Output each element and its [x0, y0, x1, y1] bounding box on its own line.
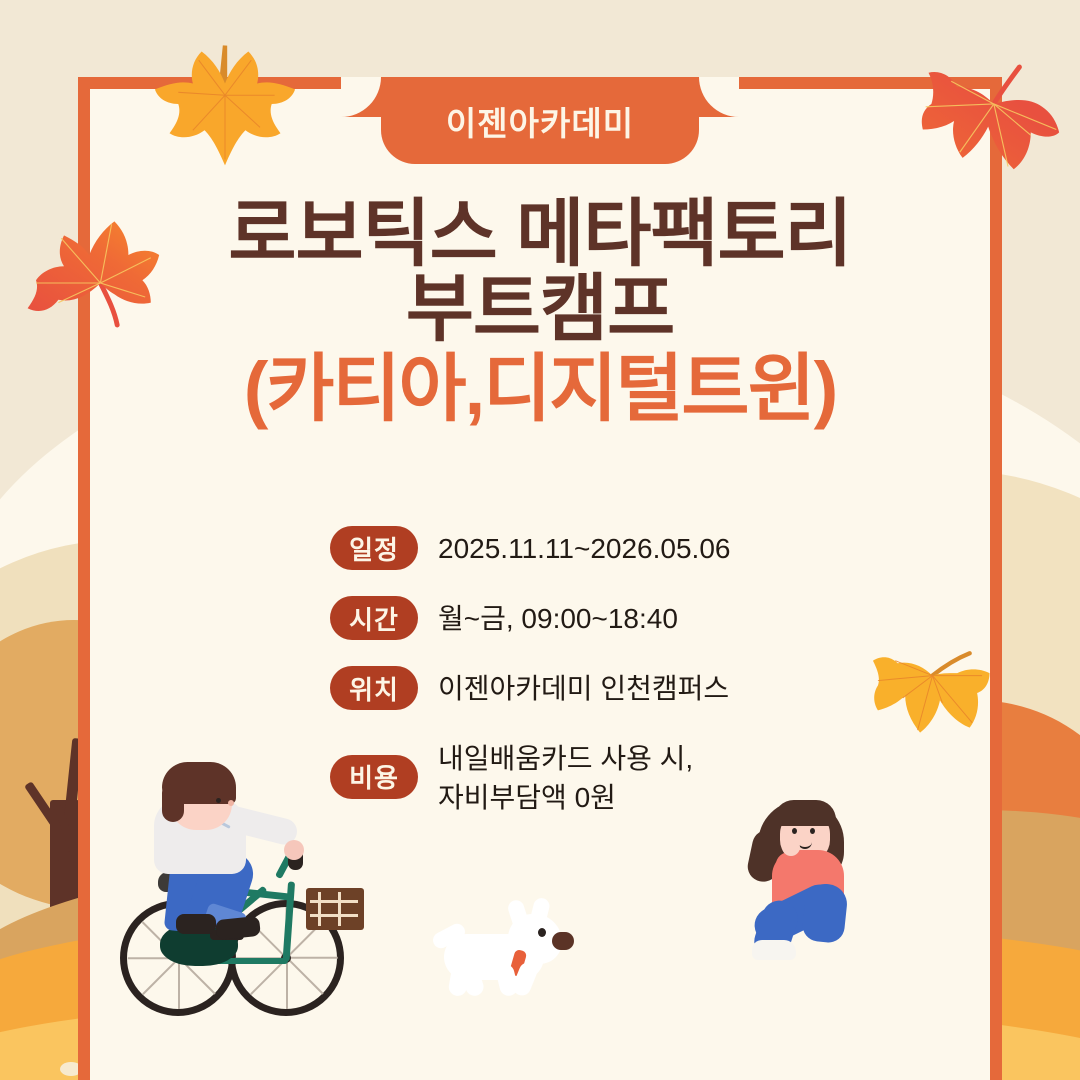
- title-line-3: (카티아,디지털트윈): [0, 351, 1080, 426]
- title-line-1: 로보틱스 메타팩토리: [0, 196, 1080, 271]
- dog-ear-back: [506, 898, 530, 930]
- info-label-time: 시간: [330, 596, 418, 640]
- girl-eye-right: [810, 828, 815, 834]
- academy-badge: 이젠아카데미: [381, 77, 699, 164]
- rider-shoe-back: [176, 914, 216, 934]
- maple-leaf-yellow-top-left-icon: [152, 28, 298, 180]
- maple-leaf-yellow-right-icon: [862, 626, 998, 750]
- info-value-location: 이젠아카데미 인천캠퍼스: [438, 666, 729, 709]
- bike-basket-weave: [338, 892, 341, 926]
- badge-notch-right: [699, 77, 739, 117]
- running-dog: [432, 898, 582, 1008]
- title-block: 로보틱스 메타팩토리 부트캠프 (카티아,디지털트윈): [0, 196, 1080, 426]
- sitting-girl: [748, 792, 898, 962]
- rider-eye: [216, 798, 221, 803]
- academy-badge-label: 이젠아카데미: [446, 97, 634, 145]
- info-value-schedule: 2025.11.11~2026.05.06: [438, 526, 730, 569]
- info-label-schedule: 일정: [330, 526, 418, 570]
- girl-hair-fringe: [774, 800, 836, 826]
- info-row-time: 시간 월~금, 09:00~18:40: [330, 596, 950, 640]
- bike-basket-weave: [310, 900, 358, 903]
- info-label-location: 위치: [330, 666, 418, 710]
- girl-knee: [801, 882, 849, 944]
- girl-shoe: [752, 940, 796, 960]
- info-row-schedule: 일정 2025.11.11~2026.05.06: [330, 526, 950, 570]
- info-list: 일정 2025.11.11~2026.05.06 시간 월~금, 09:00~1…: [330, 526, 950, 817]
- girl-eye-left: [792, 828, 797, 834]
- rider-hand: [284, 840, 304, 860]
- bike-basket-weave: [310, 914, 358, 917]
- maple-leaf-red-left-icon: [22, 196, 162, 342]
- rider-nose: [228, 800, 234, 806]
- rider-hair-side: [162, 784, 184, 822]
- bike-basket: [306, 888, 364, 930]
- cyclist: [110, 762, 360, 1042]
- info-value-cost: 내일배움카드 사용 시, 자비부담액 0원: [438, 736, 693, 817]
- info-value-time: 월~금, 09:00~18:40: [438, 596, 678, 639]
- dog-nose: [552, 932, 574, 950]
- dog-eye: [538, 928, 546, 937]
- poster-canvas: 이젠아카데미 로보틱스 메타팩토리 부트캠프 (카티아,디지털트윈) 일정 20…: [0, 0, 1080, 1080]
- girl-hand: [782, 838, 800, 856]
- badge-notch-left: [341, 77, 381, 117]
- bike-basket-weave: [318, 892, 321, 926]
- title-line-2: 부트캠프: [0, 271, 1080, 346]
- maple-leaf-red-top-right-icon: [920, 46, 1062, 196]
- info-row-location: 위치 이젠아카데미 인천캠퍼스: [330, 666, 950, 710]
